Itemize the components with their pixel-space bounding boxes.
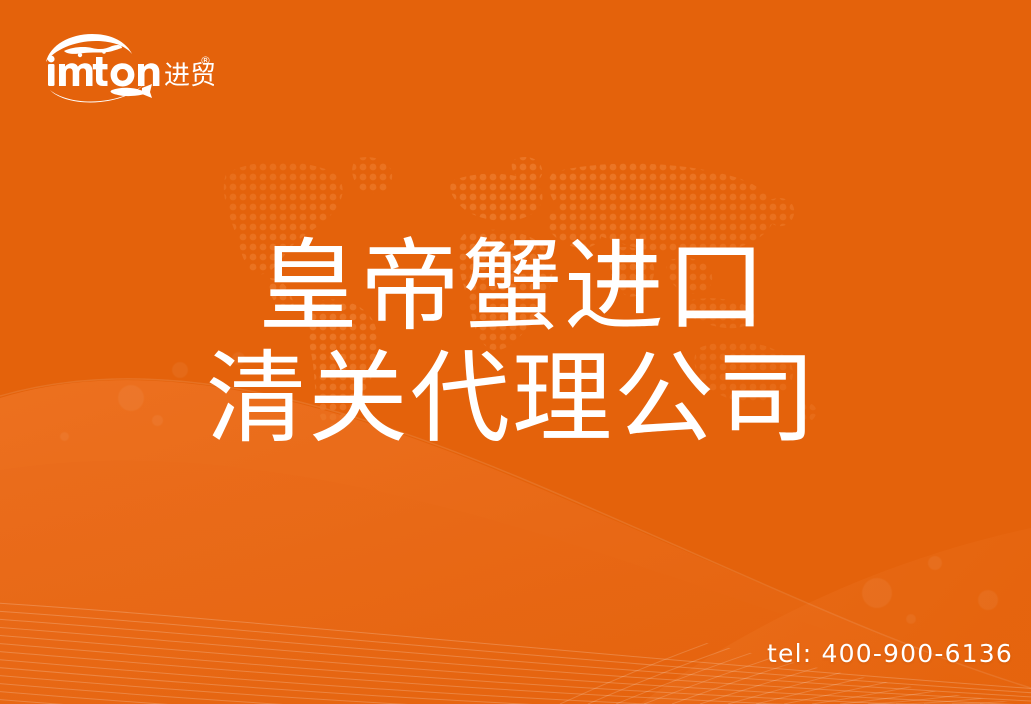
globe-continent-shape <box>64 45 122 54</box>
headline-block: 皇帝蟹进口 清关代理公司 <box>0 231 1031 455</box>
globe-dot <box>78 53 82 57</box>
fish-tail <box>142 84 152 98</box>
poster-canvas: 进贸通 ® 皇帝蟹进口 清关代理公司 tel: 400-900-6136 <box>0 0 1031 704</box>
globe-dot <box>102 50 106 54</box>
brand-logo[interactable]: 进贸通 ® <box>34 32 214 104</box>
bokeh-circle <box>978 590 998 610</box>
bokeh-circle <box>906 614 916 624</box>
headline-line-2: 清关代理公司 <box>0 343 1031 455</box>
registered-mark: ® <box>200 54 211 67</box>
logo-wordmark-latin <box>48 56 160 87</box>
contact-phone[interactable]: tel: 400-900-6136 <box>767 639 1013 668</box>
bokeh-circle <box>862 578 892 608</box>
bokeh-circle <box>928 556 942 570</box>
logo-artwork: 进贸通 ® <box>34 32 214 104</box>
fish-shape <box>111 88 145 96</box>
headline-line-1: 皇帝蟹进口 <box>0 231 1031 343</box>
